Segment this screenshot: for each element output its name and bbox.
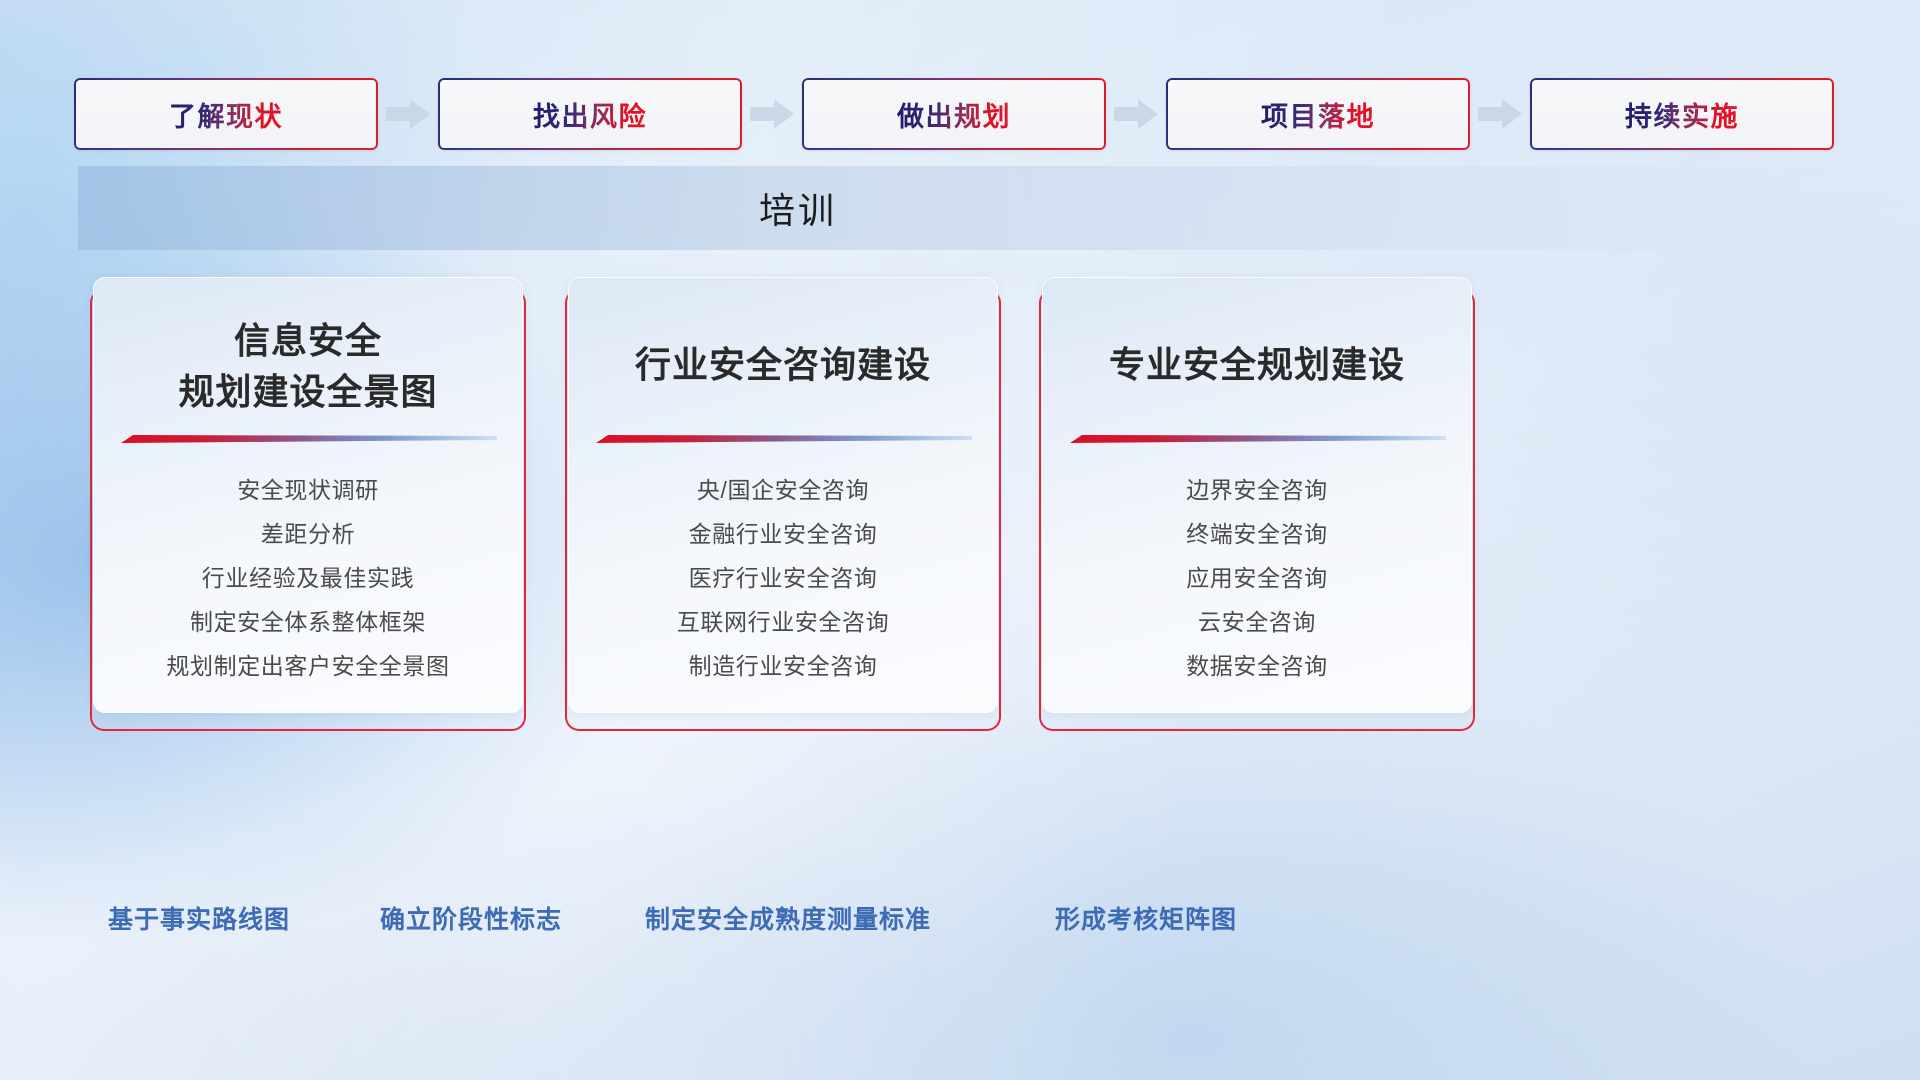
footer-label-2: 确立阶段性标志 — [380, 900, 562, 936]
step-arrow-icon-2 — [742, 94, 802, 134]
step-label: 找出风险 — [533, 95, 647, 134]
step-arrow-icon-1 — [378, 94, 438, 134]
step-box-4[interactable]: 项目落地 — [1166, 78, 1470, 150]
card-list-item[interactable]: 数据安全咨询 — [1058, 645, 1456, 689]
step-label: 了解现状 — [169, 95, 283, 134]
process-step-row: 了解现状找出风险做出规划项目落地持续实施 — [74, 76, 1848, 152]
card-item-list: 安全现状调研差距分析行业经验及最佳实践制定安全体系整体框架规划制定出客户安全全景… — [109, 469, 507, 689]
banner-title: 培训 — [78, 158, 1518, 258]
card-title: 专业安全规划建设 — [1042, 339, 1472, 390]
card-item-list: 边界安全咨询终端安全咨询应用安全咨询云安全咨询数据安全咨询 — [1058, 469, 1456, 689]
step-label: 持续实施 — [1625, 95, 1739, 134]
footer-label-1: 基于事实路线图 — [108, 900, 290, 936]
step-box-2[interactable]: 找出风险 — [438, 78, 742, 150]
card-list-item[interactable]: 云安全咨询 — [1058, 601, 1456, 645]
step-box-3[interactable]: 做出规划 — [802, 78, 1106, 150]
card-list-item[interactable]: 金融行业安全咨询 — [584, 513, 982, 557]
card-list-item[interactable]: 差距分析 — [109, 513, 507, 557]
card-divider-line — [594, 432, 972, 446]
step-box-5[interactable]: 持续实施 — [1530, 78, 1834, 150]
service-card-3[interactable]: 专业安全规划建设边界安全咨询终端安全咨询应用安全咨询云安全咨询数据安全咨询 — [1042, 277, 1472, 713]
service-card-1[interactable]: 信息安全规划建设全景图安全现状调研差距分析行业经验及最佳实践制定安全体系整体框架… — [93, 277, 523, 713]
card-list-item[interactable]: 规划制定出客户安全全景图 — [109, 645, 507, 689]
step-box-1[interactable]: 了解现状 — [74, 78, 378, 150]
card-divider-line — [1068, 432, 1446, 446]
card-title: 行业安全咨询建设 — [568, 339, 998, 390]
footer-label-4: 形成考核矩阵图 — [1055, 900, 1237, 936]
card-list-item[interactable]: 边界安全咨询 — [1058, 469, 1456, 513]
card-list-item[interactable]: 央/国企安全咨询 — [584, 469, 982, 513]
footer-label-3: 制定安全成熟度测量标准 — [645, 900, 931, 936]
training-banner: 培训 — [78, 158, 1848, 258]
card-title: 信息安全规划建设全景图 — [93, 315, 523, 417]
step-label: 项目落地 — [1261, 95, 1375, 134]
card-item-list: 央/国企安全咨询金融行业安全咨询医疗行业安全咨询互联网行业安全咨询制造行业安全咨… — [584, 469, 982, 689]
card-list-item[interactable]: 医疗行业安全咨询 — [584, 557, 982, 601]
card-list-item[interactable]: 终端安全咨询 — [1058, 513, 1456, 557]
card-title-line2: 规划建设全景图 — [93, 366, 523, 417]
card-list-item[interactable]: 应用安全咨询 — [1058, 557, 1456, 601]
footer-label-row: 基于事实路线图确立阶段性标志制定安全成熟度测量标准形成考核矩阵图 — [0, 900, 1920, 950]
card-divider-line — [119, 432, 497, 446]
card-list-item[interactable]: 制定安全体系整体框架 — [109, 601, 507, 645]
card-list-item[interactable]: 安全现状调研 — [109, 469, 507, 513]
card-list-item[interactable]: 互联网行业安全咨询 — [584, 601, 982, 645]
service-card-2[interactable]: 行业安全咨询建设央/国企安全咨询金融行业安全咨询医疗行业安全咨询互联网行业安全咨… — [568, 277, 998, 713]
card-list-item[interactable]: 行业经验及最佳实践 — [109, 557, 507, 601]
card-list-item[interactable]: 制造行业安全咨询 — [584, 645, 982, 689]
step-arrow-icon-4 — [1470, 94, 1530, 134]
card-title-line1: 信息安全 — [93, 315, 523, 366]
step-label: 做出规划 — [897, 95, 1011, 134]
card-row: 信息安全规划建设全景图安全现状调研差距分析行业经验及最佳实践制定安全体系整体框架… — [93, 277, 1527, 723]
step-arrow-icon-3 — [1106, 94, 1166, 134]
